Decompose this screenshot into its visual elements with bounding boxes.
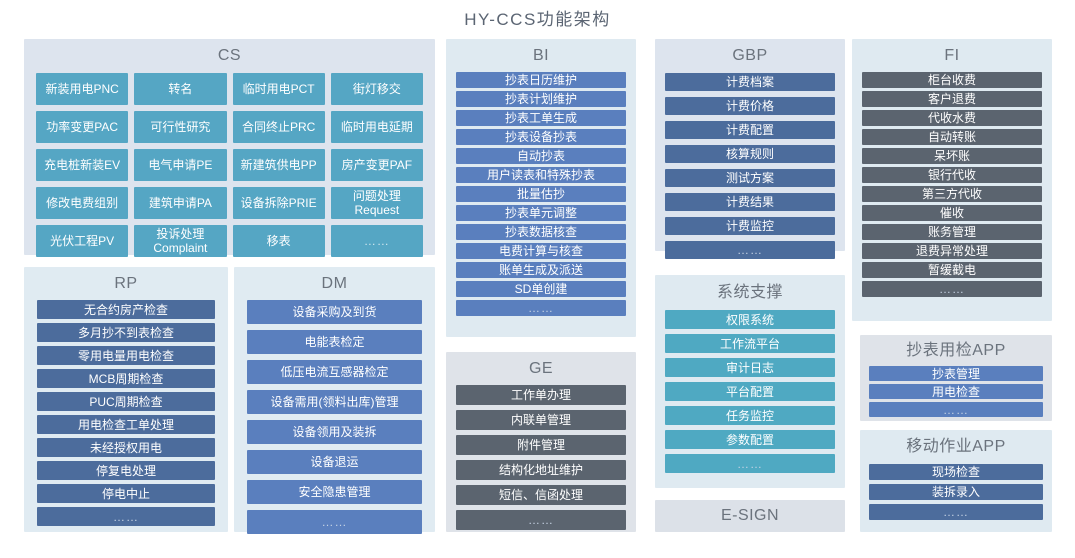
mobile-app-list-item[interactable]: 现场检查	[869, 464, 1043, 480]
fi-list-item[interactable]: 退费异常处理	[862, 243, 1042, 259]
system-support-list: 权限系统 工作流平台 审计日志 平台配置 任务监控 参数配置 ……	[665, 310, 835, 473]
mobile-app-list: 现场检查 装拆录入 ……	[869, 464, 1043, 520]
bi-list-item[interactable]: 抄表计划维护	[456, 91, 626, 107]
rp-list-item[interactable]: 未经授权用电	[37, 438, 215, 457]
cs-tile[interactable]: 可行性研究	[134, 111, 226, 143]
panel-gbp: GBP 计费档案 计费价格 计费配置 核算规则 测试方案 计费结果 计费监控 ……	[655, 39, 845, 251]
panel-rp: RP 无合约房产检查 多月抄不到表检查 零用电量用电检查 MCB周期检查 PUC…	[24, 267, 228, 532]
rp-list-item[interactable]: 停电中止	[37, 484, 215, 503]
bi-list-item[interactable]: 抄表单元调整	[456, 205, 626, 221]
dm-list-item[interactable]: 设备退运	[247, 450, 422, 474]
bi-list-item[interactable]: 抄表工单生成	[456, 110, 626, 126]
panel-ge: GE 工作单办理 内联单管理 附件管理 结构化地址维护 短信、信函处理 ……	[446, 352, 636, 532]
cs-tile[interactable]: 修改电费组别	[36, 187, 128, 219]
panel-bi: BI 抄表日历维护 抄表计划维护 抄表工单生成 抄表设备抄表 自动抄表 用户读表…	[446, 39, 636, 337]
rp-list: 无合约房产检查 多月抄不到表检查 零用电量用电检查 MCB周期检查 PUC周期检…	[37, 300, 215, 526]
ge-list-item[interactable]: 工作单办理	[456, 385, 626, 405]
dm-list: 设备采购及到货 电能表检定 低压电流互感器检定 设备需用(领料出库)管理 设备领…	[247, 300, 422, 534]
gbp-list-item[interactable]: 计费监控	[665, 217, 835, 235]
cs-tile[interactable]: 充电桩新装EV	[36, 149, 128, 181]
bi-list-item[interactable]: 用户读表和特殊抄表	[456, 167, 626, 183]
dm-list-item[interactable]: 安全隐患管理	[247, 480, 422, 504]
cs-tile[interactable]: 移表	[233, 225, 325, 257]
panel-cs-title: CS	[24, 48, 435, 64]
ge-list-item-more[interactable]: ……	[456, 510, 626, 530]
rp-list-item[interactable]: MCB周期检查	[37, 369, 215, 388]
panel-meter-app-title: 抄表用检APP	[860, 343, 1052, 359]
bi-list-item[interactable]: 抄表设备抄表	[456, 129, 626, 145]
dm-list-item[interactable]: 设备采购及到货	[247, 300, 422, 324]
bi-list-item[interactable]: 账单生成及派送	[456, 262, 626, 278]
cs-tile[interactable]: 电气申请PE	[134, 149, 226, 181]
panel-mobile-app-title: 移动作业APP	[860, 439, 1052, 455]
ge-list-item[interactable]: 短信、信函处理	[456, 485, 626, 505]
cs-tile[interactable]: 房产变更PAF	[331, 149, 423, 181]
rp-list-item[interactable]: 零用电量用电检查	[37, 346, 215, 365]
gbp-list: 计费档案 计费价格 计费配置 核算规则 测试方案 计费结果 计费监控 ……	[665, 73, 835, 259]
dm-list-item-more[interactable]: ……	[247, 510, 422, 534]
fi-list-item[interactable]: 自动转账	[862, 129, 1042, 145]
system-support-list-item[interactable]: 审计日志	[665, 358, 835, 377]
bi-list-item[interactable]: 抄表日历维护	[456, 72, 626, 88]
meter-app-list: 抄表管理 用电检查 ……	[869, 366, 1043, 417]
system-support-list-item[interactable]: 权限系统	[665, 310, 835, 329]
cs-tile[interactable]: 新装用电PNC	[36, 73, 128, 105]
bi-list-item[interactable]: 自动抄表	[456, 148, 626, 164]
rp-list-item[interactable]: 多月抄不到表检查	[37, 323, 215, 342]
panel-meter-app: 抄表用检APP 抄表管理 用电检查 ……	[860, 335, 1052, 421]
panel-esign-title: E-SIGN	[721, 508, 779, 524]
gbp-list-item-more[interactable]: ……	[665, 241, 835, 259]
bi-list-item[interactable]: 批量估抄	[456, 186, 626, 202]
gbp-list-item[interactable]: 计费档案	[665, 73, 835, 91]
cs-tile-more[interactable]: ……	[331, 225, 423, 257]
fi-list: 柜台收费 客户退费 代收水费 自动转账 呆坏账 银行代收 第三方代收 催收 账务…	[862, 72, 1042, 297]
gbp-list-item[interactable]: 计费价格	[665, 97, 835, 115]
dm-list-item[interactable]: 电能表检定	[247, 330, 422, 354]
panel-mobile-app: 移动作业APP 现场检查 装拆录入 ……	[860, 430, 1052, 532]
cs-tile[interactable]: 投诉处理 Complaint	[134, 225, 226, 257]
system-support-list-item-more[interactable]: ……	[665, 454, 835, 473]
fi-list-item[interactable]: 银行代收	[862, 167, 1042, 183]
cs-tile[interactable]: 功率变更PAC	[36, 111, 128, 143]
cs-tile[interactable]: 建筑申请PA	[134, 187, 226, 219]
fi-list-item[interactable]: 暂缓截电	[862, 262, 1042, 278]
panel-rp-title: RP	[24, 276, 228, 292]
system-support-list-item[interactable]: 任务监控	[665, 406, 835, 425]
bi-list: 抄表日历维护 抄表计划维护 抄表工单生成 抄表设备抄表 自动抄表 用户读表和特殊…	[456, 72, 626, 316]
ge-list: 工作单办理 内联单管理 附件管理 结构化地址维护 短信、信函处理 ……	[456, 385, 626, 530]
system-support-list-item[interactable]: 平台配置	[665, 382, 835, 401]
cs-tile[interactable]: 问题处理 Request	[331, 187, 423, 219]
panel-esign[interactable]: E-SIGN	[655, 500, 845, 532]
panel-ge-title: GE	[446, 361, 636, 377]
cs-tile[interactable]: 临时用电PCT	[233, 73, 325, 105]
page-title: HY-CCS功能架构	[0, 5, 1075, 30]
panel-dm: DM 设备采购及到货 电能表检定 低压电流互感器检定 设备需用(领料出库)管理 …	[234, 267, 435, 532]
fi-list-item[interactable]: 账务管理	[862, 224, 1042, 240]
bi-list-item[interactable]: 抄表数据核查	[456, 224, 626, 240]
meter-app-list-item[interactable]: 用电检查	[869, 384, 1043, 399]
fi-list-item-more[interactable]: ……	[862, 281, 1042, 297]
panel-cs: CS 新装用电PNC 转名 临时用电PCT 街灯移交 功率变更PAC 可行性研究…	[24, 39, 435, 255]
rp-list-item[interactable]: 无合约房产检查	[37, 300, 215, 319]
fi-list-item[interactable]: 第三方代收	[862, 186, 1042, 202]
cs-tile[interactable]: 临时用电延期	[331, 111, 423, 143]
bi-list-item-more[interactable]: ……	[456, 300, 626, 316]
mobile-app-list-item[interactable]: 装拆录入	[869, 484, 1043, 500]
panel-gbp-title: GBP	[655, 48, 845, 64]
architecture-diagram: HY-CCS功能架构 CS 新装用电PNC 转名 临时用电PCT 街灯移交 功率…	[0, 0, 1075, 558]
bi-list-item[interactable]: 电费计算与核查	[456, 243, 626, 259]
system-support-list-item[interactable]: 工作流平台	[665, 334, 835, 353]
cs-tile[interactable]: 新建筑供电PP	[233, 149, 325, 181]
gbp-list-item[interactable]: 计费配置	[665, 121, 835, 139]
gbp-list-item[interactable]: 核算规则	[665, 145, 835, 163]
ge-list-item[interactable]: 结构化地址维护	[456, 460, 626, 480]
cs-tile[interactable]: 转名	[134, 73, 226, 105]
cs-tile[interactable]: 光伏工程PV	[36, 225, 128, 257]
rp-list-item[interactable]: PUC周期检查	[37, 392, 215, 411]
ge-list-item[interactable]: 附件管理	[456, 435, 626, 455]
rp-list-item[interactable]: 用电检查工单处理	[37, 415, 215, 434]
ge-list-item[interactable]: 内联单管理	[456, 410, 626, 430]
gbp-list-item[interactable]: 测试方案	[665, 169, 835, 187]
fi-list-item[interactable]: 呆坏账	[862, 148, 1042, 164]
rp-list-item[interactable]: 停复电处理	[37, 461, 215, 480]
panel-system-support: 系统支撑 权限系统 工作流平台 审计日志 平台配置 任务监控 参数配置 ……	[655, 275, 845, 488]
cs-tile[interactable]: 设备拆除PRIE	[233, 187, 325, 219]
panel-fi-title: FI	[852, 48, 1052, 64]
fi-list-item[interactable]: 代收水费	[862, 110, 1042, 126]
panel-fi: FI 柜台收费 客户退费 代收水费 自动转账 呆坏账 银行代收 第三方代收 催收…	[852, 39, 1052, 321]
cs-tile[interactable]: 合同终止PRC	[233, 111, 325, 143]
rp-list-item-more[interactable]: ……	[37, 507, 215, 526]
meter-app-list-item[interactable]: 抄表管理	[869, 366, 1043, 381]
dm-list-item[interactable]: 低压电流互感器检定	[247, 360, 422, 384]
gbp-list-item[interactable]: 计费结果	[665, 193, 835, 211]
bi-list-item[interactable]: SD单创建	[456, 281, 626, 297]
mobile-app-list-item-more[interactable]: ……	[869, 504, 1043, 520]
meter-app-list-item-more[interactable]: ……	[869, 402, 1043, 417]
panel-bi-title: BI	[446, 48, 636, 64]
dm-list-item[interactable]: 设备领用及装拆	[247, 420, 422, 444]
panel-dm-title: DM	[234, 276, 435, 292]
dm-list-item[interactable]: 设备需用(领料出库)管理	[247, 390, 422, 414]
panel-system-support-title: 系统支撑	[655, 285, 845, 301]
cs-tile-grid: 新装用电PNC 转名 临时用电PCT 街灯移交 功率变更PAC 可行性研究 合同…	[36, 73, 423, 257]
fi-list-item[interactable]: 催收	[862, 205, 1042, 221]
fi-list-item[interactable]: 柜台收费	[862, 72, 1042, 88]
cs-tile[interactable]: 街灯移交	[331, 73, 423, 105]
fi-list-item[interactable]: 客户退费	[862, 91, 1042, 107]
system-support-list-item[interactable]: 参数配置	[665, 430, 835, 449]
